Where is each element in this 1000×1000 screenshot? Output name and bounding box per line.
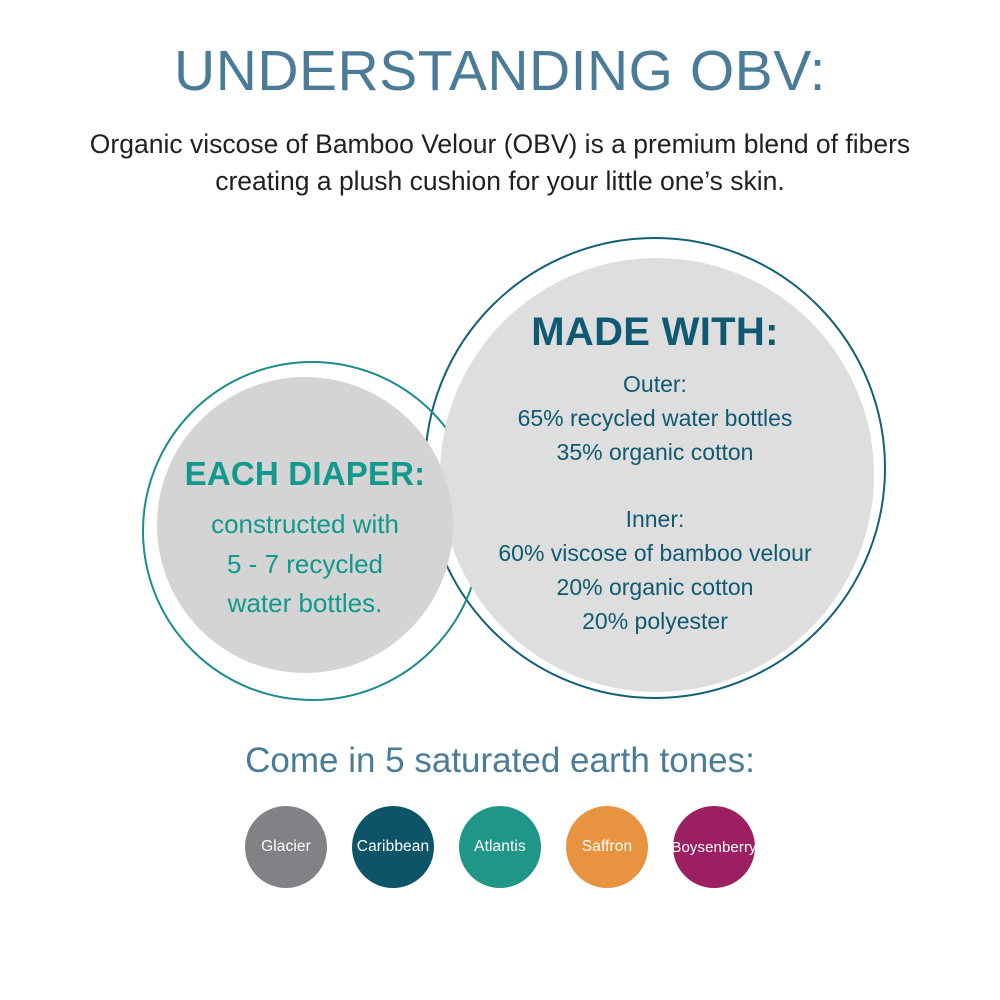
outer-label: Outer: [440,368,870,402]
outer-line-2: 35% organic cotton [440,436,870,470]
color-options-section: Come in 5 saturated earth tones: Glacier… [0,740,1000,888]
inner-composition-group: Inner: 60% viscose of bamboo velour 20% … [440,469,870,638]
made-with-heading: MADE WITH: [440,310,870,354]
colors-title: Come in 5 saturated earth tones: [0,740,1000,782]
each-diaper-line-2: 5 - 7 recycled [150,545,460,585]
each-diaper-content: EACH DIAPER: constructed with 5 - 7 recy… [150,456,460,624]
header: UNDERSTANDING OBV: Organic viscose of Ba… [0,0,1000,201]
outer-line-1: 65% recycled water bottles [440,402,870,436]
color-swatch-row: Glacier Caribbean Atlantis Saffron Boyse… [0,782,1000,888]
inner-label: Inner: [440,503,870,537]
subtitle-line-2: creating a plush cushion for your little… [30,163,970,201]
inner-line-1: 60% viscose of bamboo velour [440,537,870,571]
infographic-page: UNDERSTANDING OBV: Organic viscose of Ba… [0,0,1000,1000]
venn-diagram: EACH DIAPER: constructed with 5 - 7 recy… [0,225,1000,725]
made-with-content: MADE WITH: Outer: 65% recycled water bot… [440,310,870,639]
color-swatch-label: Boysenberry [671,839,756,856]
color-swatch-label: Caribbean [357,838,429,856]
color-swatch-atlantis[interactable]: Atlantis [459,806,541,888]
each-diaper-body: constructed with 5 - 7 recycled water bo… [150,492,460,624]
each-diaper-line-3: water bottles. [150,584,460,624]
subtitle-line-1: Organic viscose of Bamboo Velour (OBV) i… [30,126,970,164]
subtitle: Organic viscose of Bamboo Velour (OBV) i… [30,102,970,201]
inner-line-2: 20% organic cotton [440,571,870,605]
color-swatch-glacier[interactable]: Glacier [245,806,327,888]
color-swatch-caribbean[interactable]: Caribbean [352,806,434,888]
each-diaper-heading: EACH DIAPER: [150,456,460,492]
color-swatch-saffron[interactable]: Saffron [566,806,648,888]
color-swatch-boysenberry[interactable]: Boysenberry [673,806,755,888]
each-diaper-line-1: constructed with [150,505,460,545]
inner-line-3: 20% polyester [440,605,870,639]
page-title: UNDERSTANDING OBV: [0,0,1000,102]
color-swatch-label: Glacier [261,838,311,856]
color-swatch-label: Atlantis [474,838,526,856]
color-swatch-label: Saffron [582,838,632,856]
outer-composition-group: Outer: 65% recycled water bottles 35% or… [440,354,870,469]
